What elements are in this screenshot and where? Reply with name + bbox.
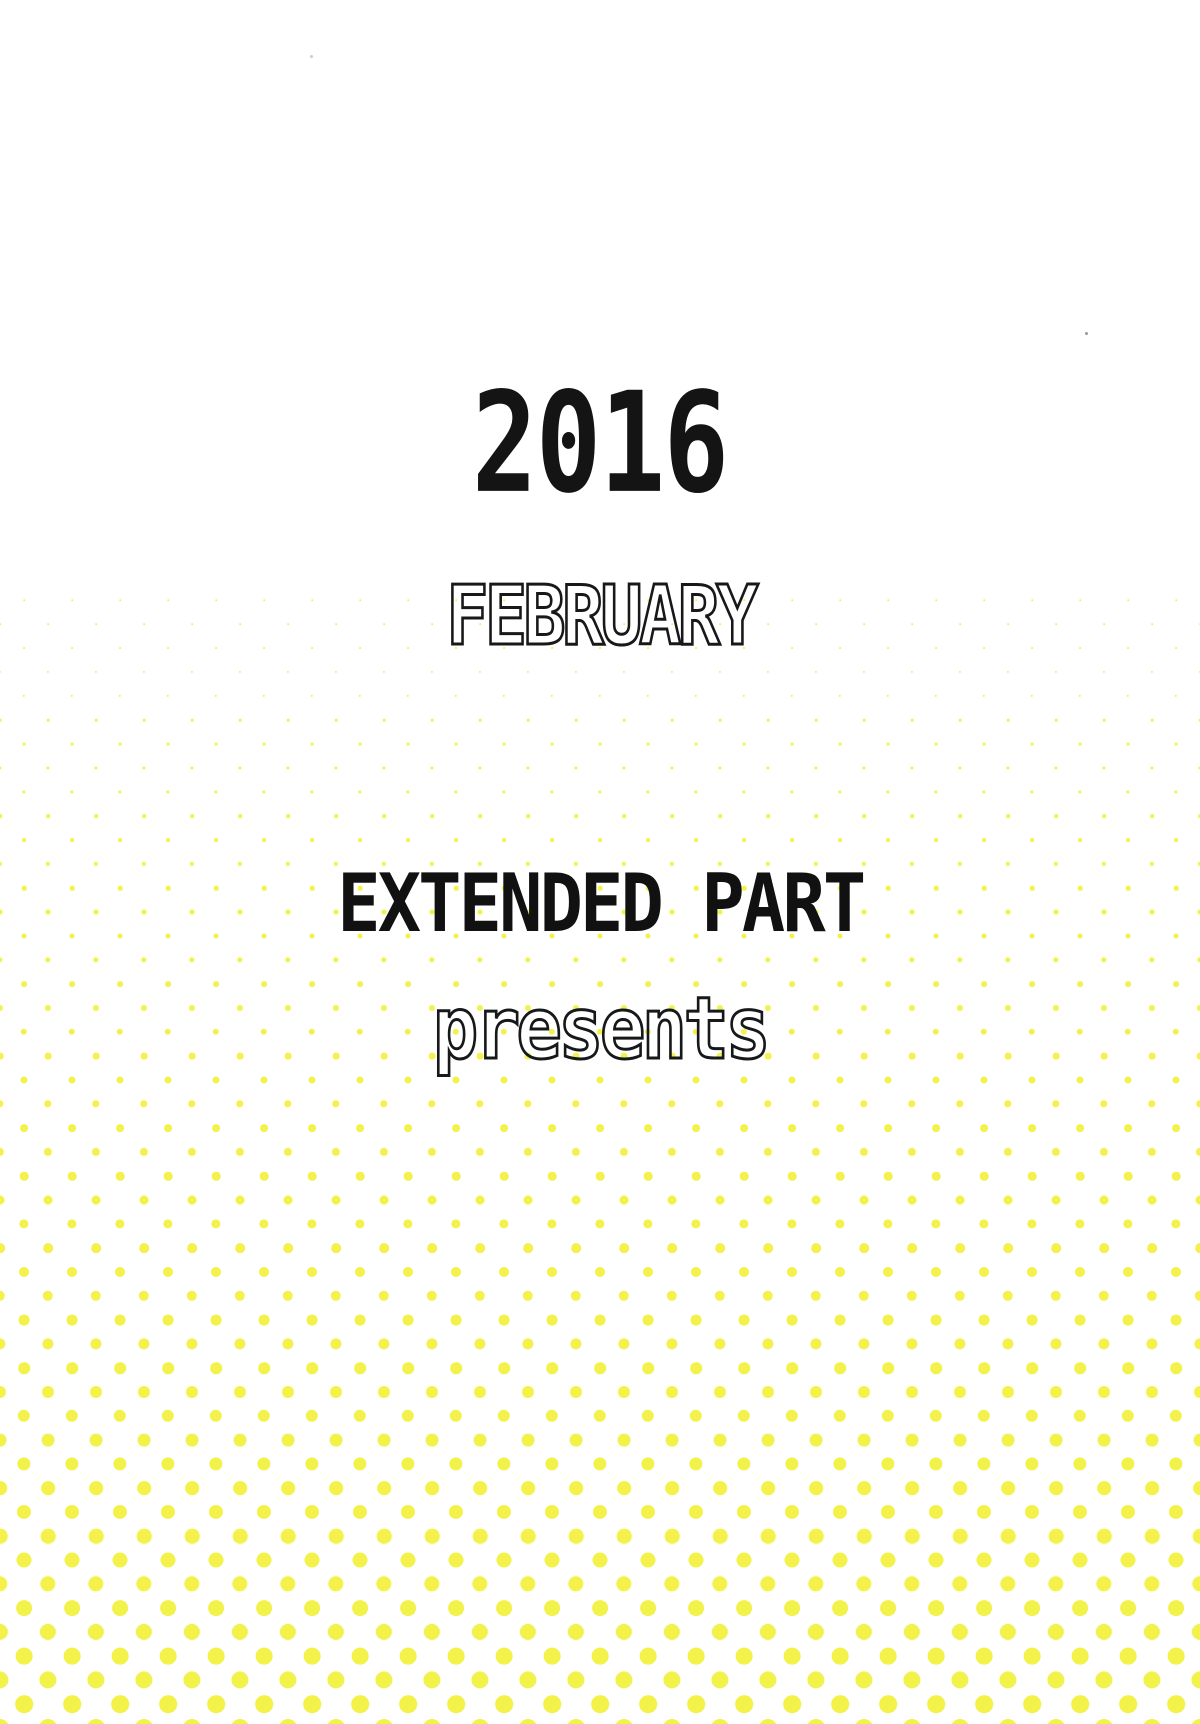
month-text: FEBRUARY [446, 576, 755, 658]
halftone-dot [905, 1481, 919, 1495]
halftone-dot [191, 671, 193, 673]
halftone-dot [375, 1719, 393, 1724]
halftone-dot [207, 1695, 225, 1713]
halftone-dot [191, 527, 192, 528]
halftone-dot [91, 1243, 101, 1253]
halftone-dot [690, 1362, 702, 1374]
halftone-dot [0, 1243, 5, 1253]
halftone-dot [839, 743, 842, 746]
month-heading: FEBRUARY [0, 576, 1200, 658]
halftone-dot [833, 1553, 848, 1568]
halftone-dot [209, 1457, 222, 1470]
halftone-dot [599, 695, 601, 697]
halftone-dot [142, 766, 145, 769]
halftone-dot [858, 1386, 870, 1398]
halftone-dot [860, 1148, 868, 1156]
halftone-dot [740, 1172, 749, 1181]
halftone-dot [1025, 1505, 1039, 1519]
halftone-dot [138, 1434, 151, 1447]
halftone-dot [355, 1267, 365, 1277]
halftone-dot [1047, 1671, 1064, 1688]
halftone-dot [475, 1291, 485, 1301]
halftone-dot [953, 1481, 967, 1495]
halftone-dot [856, 1624, 872, 1640]
halftone-dot [713, 1481, 727, 1495]
halftone-dot [784, 1600, 800, 1616]
halftone-dot [209, 1553, 224, 1568]
halftone-dot [235, 1243, 245, 1253]
halftone-dot [642, 1410, 654, 1422]
halftone-dot [695, 695, 697, 697]
halftone-dot [617, 1529, 632, 1544]
halftone-dot [1004, 1196, 1013, 1205]
halftone-dot [15, 1695, 33, 1713]
halftone-dot [89, 1481, 103, 1495]
halftone-dot [352, 1648, 369, 1665]
halftone-dot [715, 1243, 725, 1253]
halftone-dot [454, 838, 458, 842]
halftone-dot [287, 671, 289, 673]
halftone-dot [188, 1196, 197, 1205]
halftone-dot [615, 1671, 632, 1688]
halftone-dot [1172, 1124, 1180, 1132]
halftone-dot [786, 1410, 798, 1422]
halftone-dot [358, 790, 361, 793]
halftone-dot [500, 1124, 508, 1132]
halftone-dot [641, 1457, 654, 1470]
halftone-dot [1103, 671, 1105, 673]
halftone-dot [1006, 814, 1010, 818]
halftone-dot [42, 1434, 55, 1447]
halftone-dot [647, 695, 649, 697]
halftone-dot [450, 1362, 462, 1374]
halftone-dot [1148, 1196, 1157, 1205]
halftone-dot [859, 1243, 869, 1253]
halftone-dot [67, 1267, 77, 1277]
halftone-dot [1146, 1386, 1158, 1398]
halftone-dot [0, 1291, 5, 1301]
halftone-dot [1023, 1695, 1041, 1713]
halftone-dot [239, 527, 240, 528]
halftone-dot [1025, 1457, 1038, 1470]
halftone-dot [119, 743, 122, 746]
halftone-dot [834, 1362, 846, 1374]
halftone-dot [426, 1338, 437, 1349]
halftone-dot [739, 1219, 748, 1228]
halftone-dot [814, 814, 818, 818]
halftone-dot [695, 743, 698, 746]
halftone-dot [790, 838, 794, 842]
halftone-dot [382, 814, 386, 818]
halftone-dot [644, 1172, 653, 1181]
halftone-dot [1150, 814, 1154, 818]
halftone-dot [593, 1505, 607, 1519]
halftone-dot [1100, 1196, 1109, 1205]
halftone-dot [785, 1505, 799, 1519]
halftone-dot [1103, 719, 1106, 722]
halftone-dot [307, 1267, 317, 1277]
halftone-dot [137, 1481, 151, 1495]
halftone-dot [22, 838, 26, 842]
halftone-dot [574, 766, 577, 769]
halftone-dot [473, 1481, 487, 1495]
halftone-dot [47, 719, 50, 722]
halftone-dot [1051, 1243, 1061, 1253]
halftone-dot [671, 671, 673, 673]
halftone-dot [951, 1719, 969, 1724]
halftone-dot [595, 1219, 604, 1228]
halftone-dot [0, 671, 1, 673]
halftone-dot [0, 527, 1, 528]
halftone-dot [759, 1671, 776, 1688]
halftone-dot [448, 1648, 465, 1665]
halftone-dot [211, 1267, 221, 1277]
halftone-dot [353, 1457, 366, 1470]
halftone-dot [815, 527, 816, 528]
halftone-dot [763, 1291, 773, 1301]
halftone-dot [621, 957, 626, 962]
halftone-dot [904, 1624, 920, 1640]
halftone-dot [1076, 1076, 1083, 1083]
halftone-dot [619, 1243, 629, 1253]
halftone-dot [496, 1648, 513, 1665]
halftone-dot [839, 695, 841, 697]
halftone-dot [94, 814, 98, 818]
halftone-dot [569, 1529, 584, 1544]
halftone-dot [449, 1553, 464, 1568]
halftone-dot [832, 1600, 848, 1616]
halftone-dot [958, 766, 961, 769]
halftone-dot [1127, 551, 1128, 552]
halftone-dot [977, 1553, 992, 1568]
halftone-dot [503, 551, 504, 552]
halftone-dot [284, 1100, 291, 1107]
halftone-dot [208, 1600, 224, 1616]
halftone-dot [594, 1410, 606, 1422]
halftone-dot [784, 1648, 801, 1665]
halftone-dot [524, 1196, 533, 1205]
halftone-dot [116, 1172, 125, 1181]
halftone-dot [522, 1386, 534, 1398]
halftone-dot [95, 527, 96, 528]
halftone-dot [0, 1338, 6, 1349]
halftone-dot [623, 671, 625, 673]
halftone-dot [1170, 1410, 1182, 1422]
halftone-dot [858, 1434, 871, 1447]
halftone-dot [1098, 1386, 1110, 1398]
halftone-dot [65, 1505, 79, 1519]
halftone-dot [934, 790, 937, 793]
halftone-dot [353, 1505, 367, 1519]
halftone-dot [931, 1315, 942, 1326]
halftone-dot [236, 1196, 245, 1205]
halftone-dot [738, 1362, 750, 1374]
halftone-dot [884, 1172, 893, 1181]
halftone-dot [785, 1457, 798, 1470]
halftone-dot [740, 1124, 748, 1132]
halftone-dot [737, 1505, 751, 1519]
halftone-dot [641, 1553, 656, 1568]
halftone-dot [1120, 1648, 1137, 1665]
halftone-dot [1004, 1100, 1011, 1107]
halftone-dot [187, 1291, 197, 1301]
halftone-dot [476, 1100, 483, 1107]
halftone-dot [0, 1386, 6, 1398]
halftone-dot [737, 1553, 752, 1568]
halftone-dot [425, 1481, 439, 1495]
halftone-dot [140, 1100, 147, 1107]
halftone-dot [63, 1695, 81, 1713]
halftone-dot [497, 1505, 511, 1519]
halftone-dot [380, 1148, 388, 1156]
halftone-dot [976, 1600, 992, 1616]
halftone-dot [930, 1362, 942, 1374]
halftone-dot [738, 1410, 750, 1422]
halftone-dot [1119, 1695, 1137, 1713]
halftone-dot [764, 1196, 773, 1205]
halftone-dot [0, 1529, 7, 1544]
halftone-dot [929, 1457, 942, 1470]
halftone-dot [183, 1671, 200, 1688]
halftone-dot [595, 1315, 606, 1326]
halftone-dot [1126, 838, 1130, 842]
halftone-dot [138, 1338, 149, 1349]
halftone-dot [739, 1315, 750, 1326]
halftone-dot [711, 1671, 728, 1688]
halftone-dot [17, 1457, 30, 1470]
halftone-dot [810, 1338, 821, 1349]
halftone-dot [454, 790, 457, 793]
halftone-dot [1055, 527, 1056, 528]
halftone-dot [67, 1315, 78, 1326]
halftone-dot [334, 766, 337, 769]
halftone-dot [188, 1148, 196, 1156]
halftone-dot [257, 1553, 272, 1568]
halftone-dot [550, 790, 553, 793]
halftone-dot [427, 1291, 437, 1301]
halftone-dot [952, 1624, 968, 1640]
halftone-dot [64, 1600, 80, 1616]
halftone-dot [1169, 1505, 1183, 1519]
halftone-dot [689, 1505, 703, 1519]
halftone-dot [258, 1362, 270, 1374]
halftone-dot [44, 1196, 53, 1205]
halftone-dot [570, 1338, 581, 1349]
halftone-dot [191, 719, 194, 722]
halftone-dot [1193, 1529, 1200, 1544]
halftone-dot [643, 1267, 653, 1277]
halftone-dot [719, 671, 721, 673]
halftone-dot [330, 1434, 343, 1447]
halftone-dot [215, 695, 217, 697]
halftone-dot [1144, 1576, 1159, 1591]
halftone-dot [471, 1719, 489, 1724]
halftone-dot [399, 1695, 417, 1713]
halftone-dot [304, 1648, 321, 1665]
halftone-dot [863, 527, 864, 528]
halftone-dot [377, 1481, 391, 1495]
halftone-dot [616, 1624, 632, 1640]
halftone-dot [932, 1124, 940, 1132]
halftone-dot [671, 527, 672, 528]
halftone-dot [283, 1243, 293, 1253]
halftone-dot [570, 1434, 583, 1447]
halftone-dot [1026, 1362, 1038, 1374]
halftone-dot [791, 551, 792, 552]
halftone-dot [719, 719, 722, 722]
halftone-dot [742, 838, 746, 842]
halftone-dot [185, 1481, 199, 1495]
halftone-dot [594, 1362, 606, 1374]
halftone-dot [1195, 1291, 1200, 1301]
halftone-dot [548, 1124, 556, 1132]
halftone-dot [1192, 1624, 1200, 1640]
halftone-dot [401, 1505, 415, 1519]
halftone-dot [618, 1434, 631, 1447]
halftone-dot [598, 790, 601, 793]
halftone-dot [1075, 1219, 1084, 1228]
halftone-dot [807, 1719, 825, 1724]
halftone-dot [975, 1695, 993, 1713]
halftone-dot [568, 1624, 584, 1640]
halftone-dot [647, 743, 650, 746]
halftone-dot [521, 1481, 535, 1495]
halftone-dot [1145, 1529, 1160, 1544]
halftone-dot [403, 1219, 412, 1228]
halftone-dot [161, 1505, 175, 1519]
halftone-dot [161, 1553, 176, 1568]
halftone-dot [1027, 1219, 1036, 1228]
halftone-dot [238, 766, 241, 769]
halftone-dot [186, 1386, 198, 1398]
halftone-dot [0, 1719, 9, 1724]
halftone-dot [1048, 1624, 1064, 1640]
halftone-dot [359, 551, 360, 552]
halftone-dot [236, 1148, 244, 1156]
halftone-dot [935, 695, 937, 697]
halftone-dot [647, 551, 648, 552]
halftone-dot [234, 1434, 247, 1447]
halftone-dot [907, 1243, 917, 1253]
halftone-dot [448, 1600, 464, 1616]
halftone-dot [1146, 1338, 1157, 1349]
halftone-dot [23, 551, 24, 552]
halftone-dot [762, 1386, 774, 1398]
halftone-dot [40, 1624, 56, 1640]
halftone-dot [19, 1219, 28, 1228]
halftone-dot [736, 1600, 752, 1616]
halftone-dot [1028, 1172, 1037, 1181]
halftone-dot [1050, 1338, 1061, 1349]
halftone-dot [260, 1124, 268, 1132]
year-text: 2016 [472, 375, 727, 514]
halftone-dot [67, 1219, 76, 1228]
halftone-dot [1144, 1624, 1160, 1640]
halftone-dot [572, 1196, 581, 1205]
halftone-dot [215, 743, 218, 746]
halftone-dot [503, 695, 505, 697]
halftone-dot [833, 1457, 846, 1470]
halftone-dot [359, 695, 361, 697]
halftone-dot [263, 551, 264, 552]
halftone-dot [834, 1410, 846, 1422]
halftone-dot [1192, 1576, 1200, 1591]
halftone-dot [115, 1267, 125, 1277]
halftone-dot [1079, 551, 1080, 552]
halftone-dot [569, 1481, 583, 1495]
halftone-dot [44, 1148, 52, 1156]
halftone-dot [718, 814, 722, 818]
halftone-dot [138, 1386, 150, 1398]
halftone-dot [260, 1076, 267, 1083]
halftone-dot [352, 1600, 368, 1616]
halftone-dot [92, 1196, 101, 1205]
halftone-dot [855, 1719, 873, 1724]
halftone-dot [787, 1315, 798, 1326]
halftone-dot [1055, 671, 1057, 673]
halftone-dot [689, 1553, 704, 1568]
halftone-dot [1143, 1671, 1160, 1688]
halftone-dot [211, 1315, 222, 1326]
halftone-dot [355, 1219, 364, 1228]
halftone-dot [951, 1671, 968, 1688]
halftone-dot [310, 790, 313, 793]
halftone-dot [423, 1719, 441, 1724]
halftone-dot [160, 1648, 177, 1665]
halftone-dot [716, 1100, 723, 1107]
halftone-dot [983, 695, 985, 697]
halftone-dot [593, 1457, 606, 1470]
halftone-dot [904, 1576, 919, 1591]
halftone-dot [1075, 1267, 1085, 1277]
halftone-dot [113, 1505, 127, 1519]
halftone-dot [381, 957, 386, 962]
halftone-dot [811, 1243, 821, 1253]
halftone-dot [788, 1124, 796, 1132]
halftone-dot [887, 551, 888, 552]
halftone-dot [214, 790, 217, 793]
halftone-dot [831, 1695, 849, 1713]
halftone-dot [838, 790, 841, 793]
halftone-dot [141, 957, 146, 962]
halftone-dot [694, 838, 698, 842]
halftone-dot [287, 527, 288, 528]
halftone-dot [16, 1648, 33, 1665]
halftone-dot [1024, 1600, 1040, 1616]
halftone-dot [599, 743, 602, 746]
halftone-dot [92, 1100, 99, 1107]
halftone-dot [595, 1267, 605, 1277]
halftone-dot [401, 1553, 416, 1568]
halftone-dot [1076, 1124, 1084, 1132]
halftone-dot [643, 1219, 652, 1228]
halftone-dot [1103, 527, 1104, 528]
halftone-dot [19, 1315, 30, 1326]
halftone-dot [1052, 1196, 1061, 1205]
halftone-dot [838, 838, 842, 842]
halftone-dot [618, 1386, 630, 1398]
halftone-dot [574, 814, 578, 818]
halftone-dot [281, 1481, 295, 1495]
halftone-dot [46, 814, 50, 818]
halftone-dot [47, 527, 48, 528]
halftone-dot [1167, 1695, 1185, 1713]
halftone-dot [359, 743, 362, 746]
halftone-dot [1123, 1315, 1134, 1326]
halftone-dot [356, 1076, 363, 1083]
halftone-dot [428, 1100, 435, 1107]
halftone-dot [262, 838, 266, 842]
